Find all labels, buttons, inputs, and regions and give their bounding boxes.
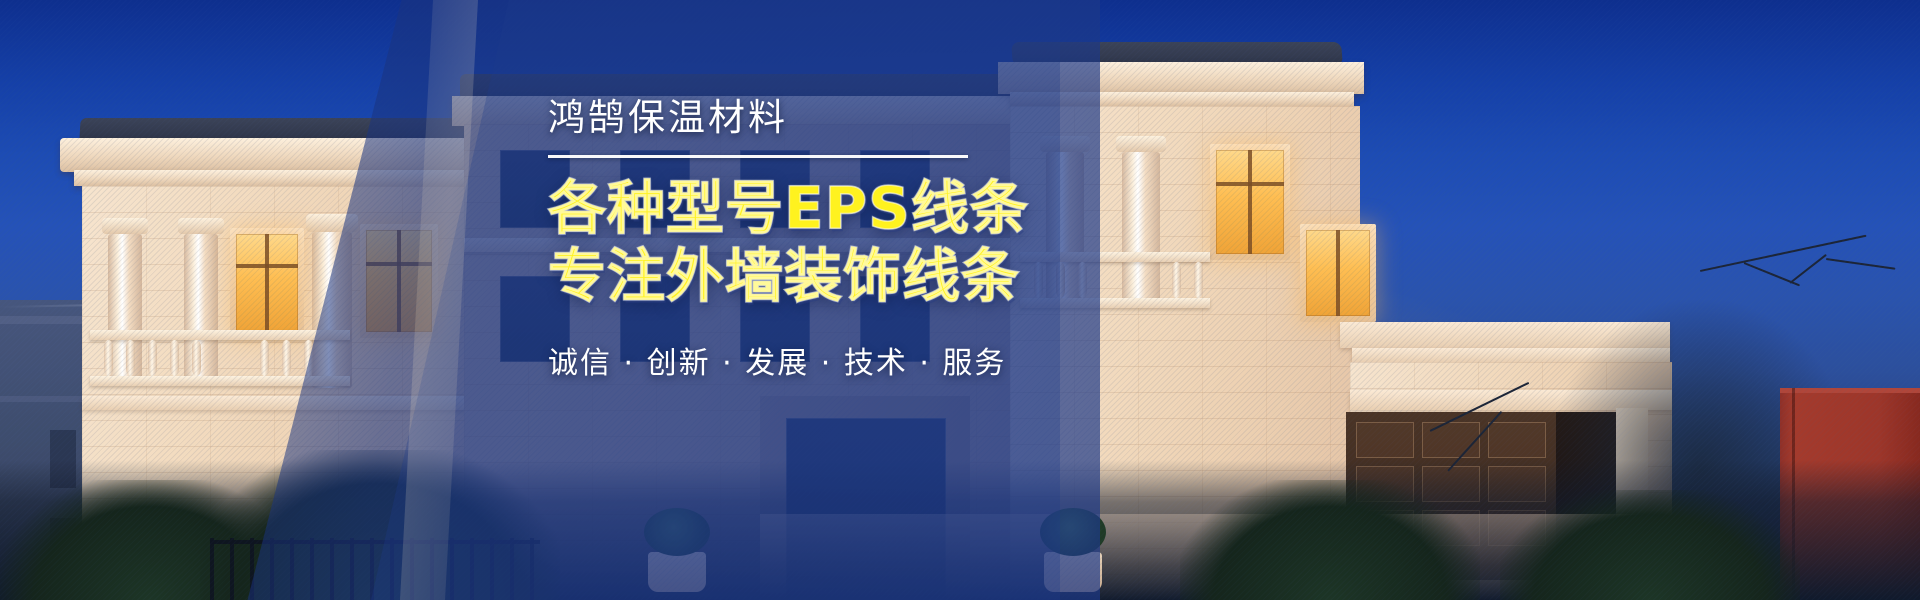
lit-window bbox=[236, 234, 298, 332]
planter bbox=[648, 552, 706, 592]
left-wing-eave bbox=[60, 138, 510, 172]
string-course bbox=[82, 396, 502, 410]
baluster bbox=[170, 340, 179, 376]
brand-name: 鸿鹄保温材料 bbox=[548, 96, 1008, 140]
planter bbox=[1044, 552, 1102, 592]
garage-panel bbox=[1422, 422, 1480, 458]
baluster bbox=[148, 340, 157, 376]
topiary-shrub bbox=[1040, 508, 1106, 556]
tagline: 诚信 · 创新 · 发展 · 技术 · 服务 bbox=[548, 338, 1008, 382]
column-capital bbox=[306, 214, 358, 232]
baluster bbox=[1078, 262, 1087, 298]
garage-panel bbox=[1488, 422, 1546, 458]
balustrade-base-rail bbox=[90, 376, 350, 386]
baluster bbox=[304, 340, 313, 376]
lit-window bbox=[1216, 150, 1284, 254]
right-wing-eave-lower bbox=[1010, 92, 1354, 106]
shrub bbox=[1180, 480, 1480, 600]
baluster bbox=[1056, 262, 1065, 298]
window-mullion bbox=[1248, 150, 1252, 254]
right-wing-eave bbox=[998, 62, 1364, 94]
divider-rule bbox=[548, 155, 968, 158]
garage-panel bbox=[1356, 422, 1414, 458]
headline: 各种型号EPS线条 专注外墙装饰线条 bbox=[548, 177, 1008, 307]
shrub bbox=[1500, 490, 1800, 600]
balustrade-base-rail bbox=[1020, 298, 1210, 308]
headline-line-2: 专注外墙装饰线条 bbox=[548, 245, 1008, 307]
column-capital bbox=[1116, 136, 1166, 152]
promo-banner: 鸿鹄保温材料 各种型号EPS线条 专注外墙装饰线条 诚信 · 创新 · 发展 ·… bbox=[0, 0, 1920, 600]
window-transom bbox=[366, 262, 432, 266]
baluster bbox=[104, 340, 113, 376]
column-capital bbox=[1040, 136, 1090, 152]
banner-text-block: 鸿鹄保温材料 各种型号EPS线条 专注外墙装饰线条 诚信 · 创新 · 发展 ·… bbox=[548, 96, 1008, 382]
column bbox=[184, 234, 218, 384]
column bbox=[108, 234, 142, 384]
headline-line-1: 各种型号EPS线条 bbox=[548, 174, 1029, 242]
baluster bbox=[1194, 262, 1203, 298]
lit-window bbox=[366, 230, 432, 332]
left-wing-roof bbox=[79, 118, 500, 140]
window-transom bbox=[236, 264, 298, 268]
column bbox=[312, 232, 352, 388]
baluster bbox=[192, 340, 201, 376]
window-mullion bbox=[397, 230, 401, 332]
baluster bbox=[126, 340, 135, 376]
balustrade-top-rail bbox=[1020, 252, 1210, 262]
column-capital bbox=[102, 218, 148, 234]
column-capital bbox=[178, 218, 224, 234]
baluster bbox=[260, 340, 269, 376]
left-wing-eave-lower bbox=[74, 170, 499, 186]
iron-fence bbox=[210, 538, 540, 600]
balustrade-top-rail bbox=[90, 330, 350, 340]
baluster bbox=[282, 340, 291, 376]
lit-window bbox=[1306, 230, 1370, 316]
topiary-shrub bbox=[644, 508, 710, 556]
window-transom bbox=[1216, 182, 1284, 186]
window-mullion bbox=[265, 234, 269, 332]
red-wall-cap bbox=[1780, 388, 1920, 393]
baluster bbox=[1172, 262, 1181, 298]
column bbox=[1122, 152, 1160, 306]
baluster bbox=[1034, 262, 1043, 298]
window-mullion bbox=[1336, 230, 1340, 316]
